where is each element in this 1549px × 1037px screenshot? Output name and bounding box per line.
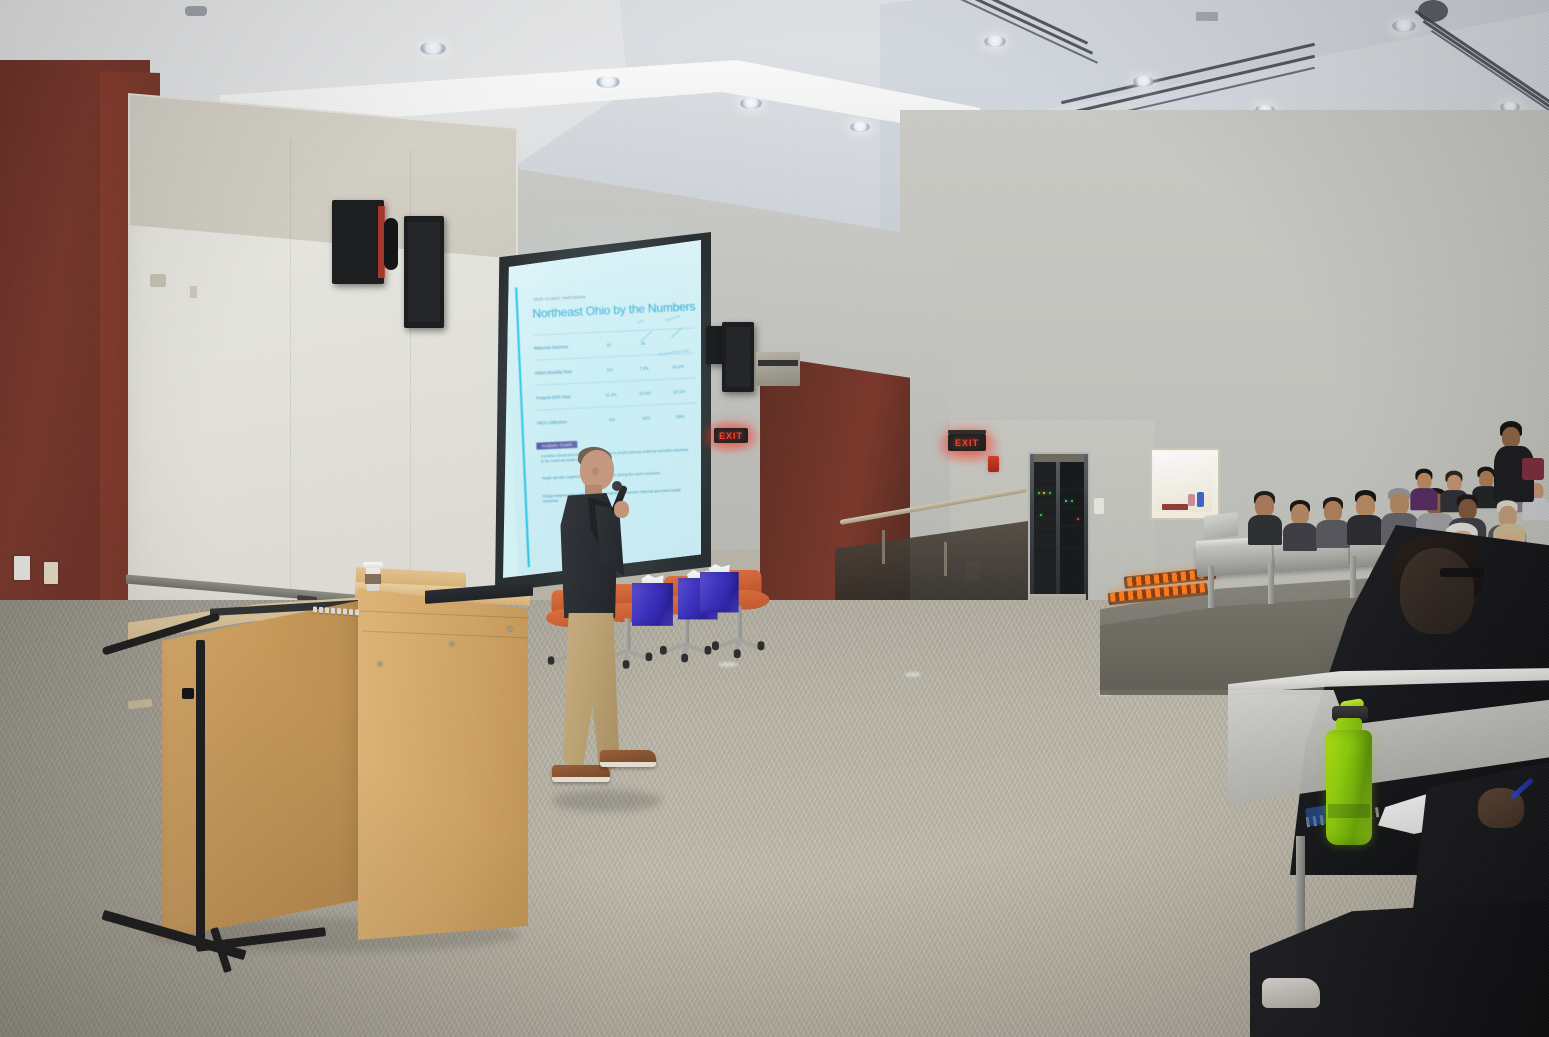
exit-sign-right-label: EXIT (955, 438, 979, 448)
ceiling-vent (185, 6, 207, 16)
speaker-grille (726, 327, 750, 387)
slide-cell-ohio: 10.5% (628, 389, 662, 396)
slide-cell-label: NICU Utilization (537, 418, 595, 426)
fire-alarm-pull-station[interactable] (988, 456, 999, 472)
speaker-grille (408, 222, 440, 322)
presenter-hand (614, 501, 629, 518)
presenter-shoe-front (600, 750, 656, 767)
wall-mounted-projector-box (756, 352, 800, 386)
bottle-body (1326, 730, 1372, 845)
slide-eyebrow: OUR CLIENT PARTNERS (534, 294, 587, 301)
whiteboard-seam (290, 140, 291, 590)
foreground-attendee-shoe (1262, 978, 1320, 1008)
equipment-room-doorway[interactable] (1028, 452, 1090, 614)
shoulder-bag (1522, 458, 1544, 480)
wall-mounted-bracket (150, 274, 166, 287)
floor-scuff (718, 662, 738, 667)
slide-cell-ohio: 3x (626, 339, 660, 346)
recessed-downlight (850, 122, 870, 132)
mic-stand-pole[interactable] (196, 640, 205, 950)
rack-top-cable-tray (1034, 454, 1084, 462)
slide-column-header-ohio: Ohio (636, 319, 644, 325)
water-bottle[interactable] (1320, 700, 1380, 850)
exit-sign-left-label: EXIT (719, 431, 743, 441)
slide-cell-usa: 2x (592, 341, 626, 348)
ceiling-vent (1196, 12, 1218, 21)
desk-leg (1268, 562, 1274, 604)
recessed-downlight (596, 76, 620, 88)
slide-cell-usa: 6% (593, 366, 627, 373)
slide-cell-label: Infant Mortality Rate (535, 368, 593, 376)
podium-fastener (508, 627, 512, 631)
wall-switch-plate[interactable] (14, 556, 30, 580)
slide-cell-label: Maternal Outcome (534, 343, 592, 351)
floor-scuff (905, 672, 921, 677)
presenter-shoe-back (552, 765, 610, 782)
exit-sign-right: EXIT (948, 434, 986, 451)
microphone-head (612, 481, 622, 491)
wall-outlet-plate[interactable] (44, 562, 58, 584)
presenter-trousers (560, 613, 622, 773)
recessed-downlight (984, 36, 1006, 47)
slide-cell-label: Preterm Birth Rate (536, 393, 594, 401)
podium-fastener (450, 642, 454, 646)
wall-speaker-left (332, 200, 384, 284)
gift-bag-body (700, 572, 739, 612)
slide-cell-metro: 18% (663, 413, 697, 420)
podium-front-panel[interactable] (162, 600, 362, 940)
coffee-cup[interactable] (364, 561, 382, 591)
handrail (840, 520, 1030, 590)
mic-stand-clamp[interactable] (182, 688, 194, 699)
exit-sign-left: EXIT (714, 428, 748, 443)
coffee-cup-lid (363, 562, 383, 568)
wall-mounted-clip (190, 286, 197, 298)
presenter (540, 445, 660, 810)
recessed-downlight (1133, 76, 1154, 87)
slide-accent-bar (515, 287, 530, 567)
projector-lens-panel (758, 360, 798, 366)
recessed-downlight (420, 42, 446, 55)
lecture-hall-photo: OUR CLIENT PARTNERS Northeast Ohio by th… (0, 0, 1549, 1037)
projection-booth-window-glass (1154, 452, 1212, 512)
equipment-rack-right (1060, 460, 1084, 600)
recessed-downlight (740, 98, 762, 109)
exit-sign-housing (948, 430, 986, 434)
desk-leg (1208, 566, 1214, 608)
slide-cell-ohio: 7.3% (627, 364, 661, 371)
presenter-ear (592, 467, 599, 476)
eyeglasses (1440, 568, 1484, 577)
podium-side-panel[interactable] (358, 588, 528, 940)
track-light-head (1418, 0, 1448, 22)
slide-table: Maternal Outcome 2x 3x Infant Mortality … (533, 327, 697, 434)
coffee-cup-sleeve (365, 574, 381, 584)
light-switch-by-door[interactable] (1094, 498, 1104, 514)
slide-cell-metro: 14.1% (662, 388, 696, 395)
recessed-downlight (1392, 20, 1416, 32)
podium-fastener (378, 662, 382, 666)
slide-cell-usa: 11.4% (594, 391, 628, 398)
slide-cell-metro (660, 340, 694, 342)
whiteboard-seam (410, 150, 411, 580)
desk-leg (1350, 556, 1356, 598)
slide-cell-ohio: 10% (629, 414, 663, 421)
speaker-mount-bracket (384, 218, 398, 270)
foreground-attendee-head (1400, 548, 1474, 634)
slide-cell-usa: 8% (595, 416, 629, 423)
slide-column-header-metro-short: Cleveland (664, 314, 680, 323)
bottle-label (1328, 804, 1370, 818)
slide-cell-metro: 14.2% (661, 363, 695, 370)
